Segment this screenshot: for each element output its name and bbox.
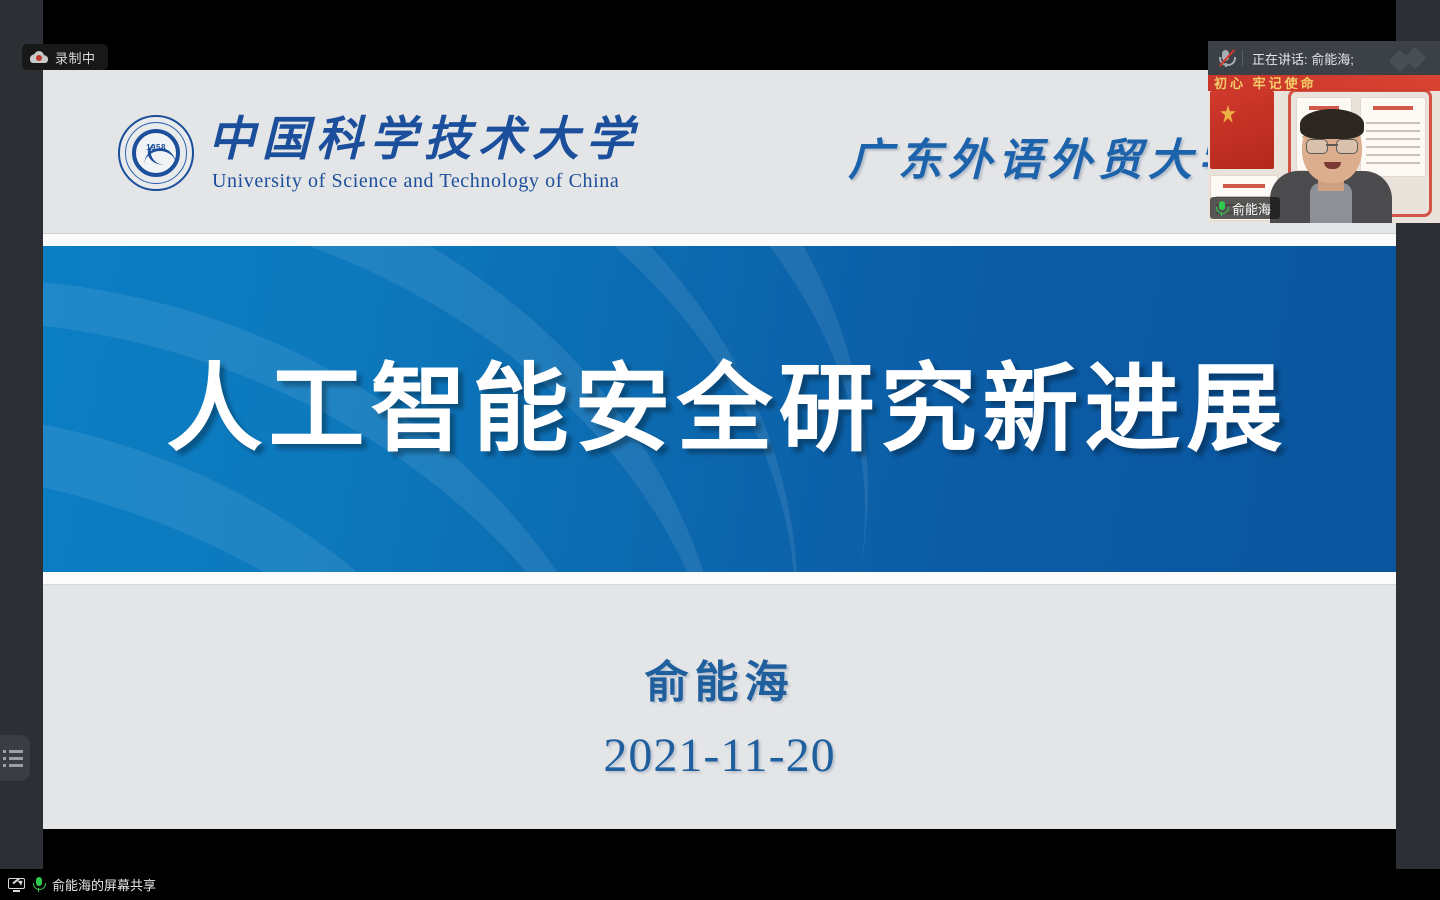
- presenter-name: 俞能海: [645, 646, 795, 710]
- backdrop-flag-poster: [1210, 91, 1274, 169]
- active-speaker-label: 正在讲话: 俞能海;: [1252, 49, 1354, 68]
- list-panel-icon: [3, 750, 23, 767]
- screen-share-label: 俞能海的屏幕共享: [52, 875, 156, 894]
- microphone-on-icon: [33, 877, 44, 892]
- screen-share-icon: [8, 878, 25, 892]
- ustc-seal-icon: 1958: [118, 115, 194, 191]
- video-panel-header: 正在讲话: 俞能海;: [1208, 41, 1440, 75]
- slide-header: 1958 中国科学技术大学 University of Science and …: [43, 70, 1396, 228]
- video-thumbnail-panel[interactable]: 正在讲话: 俞能海; 初心 牢记使命: [1208, 41, 1440, 223]
- ustc-english-name: University of Science and Technology of …: [212, 171, 640, 191]
- network-signal-icon[interactable]: [1392, 49, 1432, 67]
- bottom-status-bar: 俞能海的屏幕共享: [0, 869, 1440, 900]
- participant-name-badge: 俞能海: [1210, 197, 1280, 219]
- recording-indicator[interactable]: 录制中: [22, 44, 108, 70]
- left-rail: [0, 0, 43, 869]
- slide-rule-top: [43, 228, 1396, 246]
- microphone-muted-icon[interactable]: [1218, 48, 1234, 68]
- shared-screen-slide: 1958 中国科学技术大学 University of Science and …: [43, 70, 1396, 829]
- ustc-logo: 1958 中国科学技术大学 University of Science and …: [118, 115, 640, 191]
- glasses-icon: [1306, 139, 1358, 153]
- participant-video-feed[interactable]: 初心 牢记使命: [1208, 75, 1440, 223]
- slide-title-banner: 人工智能安全研究新进展: [43, 246, 1396, 572]
- ustc-chinese-name: 中国科学技术大学: [208, 116, 640, 163]
- backdrop-poster: [1360, 97, 1426, 177]
- participant-name: 俞能海: [1232, 199, 1271, 218]
- participant-hair: [1300, 109, 1364, 139]
- gdufs-logo: 广东外语外贸大学: [848, 124, 1248, 188]
- microphone-on-icon: [1216, 201, 1227, 216]
- cloud-record-icon: [30, 51, 48, 63]
- zoom-meeting-window: 录制中 1958 中国科学技术大学 University of Science …: [0, 0, 1440, 900]
- slide-footer: 俞能海 2021-11-20: [43, 594, 1396, 827]
- talk-date: 2021-11-20: [603, 728, 835, 783]
- slide-title: 人工智能安全研究新进展: [167, 361, 1289, 457]
- panel-toggle-button[interactable]: [0, 735, 30, 781]
- header-divider: [1242, 50, 1243, 66]
- recording-label: 录制中: [55, 48, 96, 67]
- slide-rule-bottom: [43, 572, 1396, 594]
